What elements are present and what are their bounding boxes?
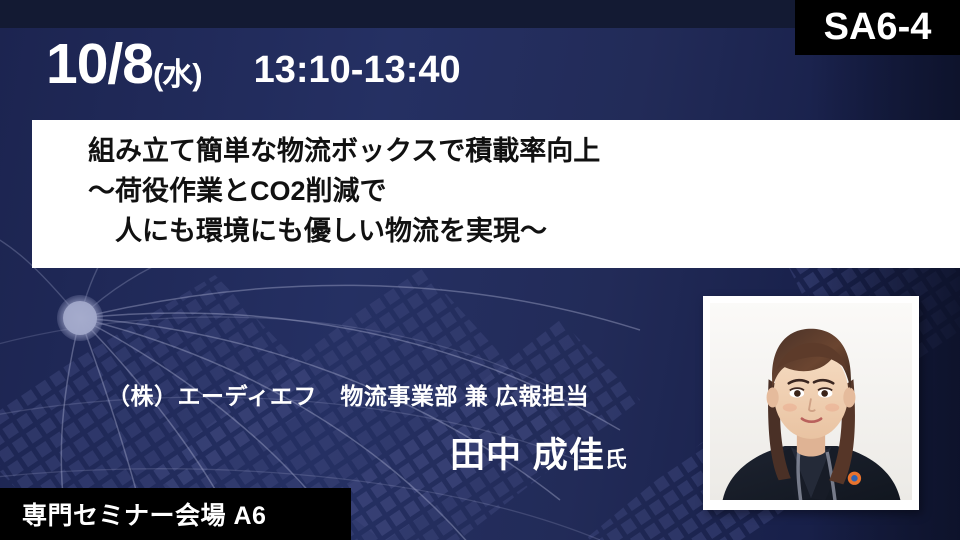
session-title-line-2: 〜荷役作業とCO2削減で	[88, 172, 960, 212]
node-starburst	[57, 295, 103, 341]
session-title-line-1: 組み立て簡単な物流ボックスで積載率向上	[88, 132, 960, 172]
speaker-photo	[710, 303, 912, 500]
schedule-row: 10/8 (水) 13:10-13:40	[46, 36, 461, 93]
session-code-label: SA6-4	[824, 8, 932, 48]
speaker-name-suffix: 氏	[605, 442, 627, 474]
venue-badge: 専門セミナー会場 A6	[0, 488, 351, 540]
venue-label: 専門セミナー会場 A6	[22, 496, 266, 532]
date-label: 10/8	[46, 36, 153, 93]
session-title-panel: 組み立て簡単な物流ボックスで積載率向上 〜荷役作業とCO2削減で 人にも環境にも…	[32, 120, 960, 268]
day-of-week-label: (水)	[153, 59, 202, 93]
time-range-label: 13:10-13:40	[202, 51, 461, 93]
seminar-slide: SA6-4 10/8 (水) 13:10-13:40 組み立て簡単な物流ボックス…	[0, 0, 960, 540]
speaker-affiliation: （株）エーディエフ 物流事業部 兼 広報担当	[107, 377, 589, 411]
speaker-photo-frame	[703, 296, 919, 510]
speaker-name-row: 田中 成佳 氏	[450, 427, 627, 478]
speaker-portrait-illustration	[710, 303, 912, 500]
speaker-name-label: 田中 成佳	[450, 427, 605, 478]
session-code-badge: SA6-4	[795, 0, 960, 55]
session-title-line-3: 人にも環境にも優しい物流を実現〜	[88, 212, 960, 252]
